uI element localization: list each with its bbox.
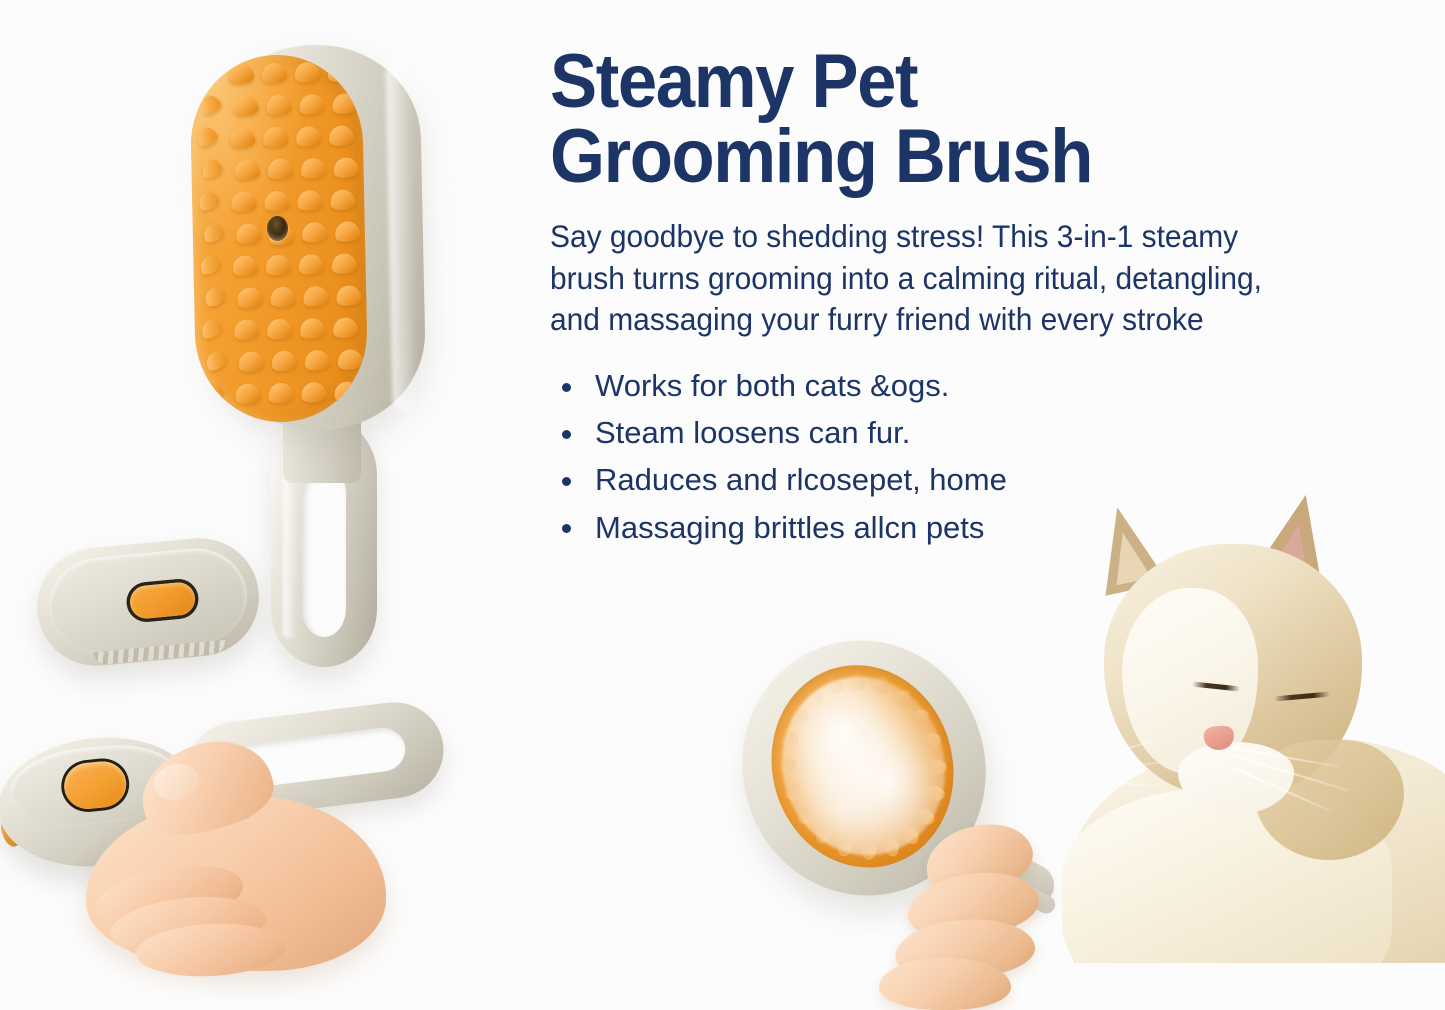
bristle bbox=[199, 381, 225, 406]
bristle bbox=[334, 220, 361, 243]
feature-label: Massaging brittles allcn pets bbox=[595, 510, 984, 545]
cat-head bbox=[1104, 544, 1362, 796]
feature-label: Raduces and rlcosepet, home bbox=[595, 462, 1007, 497]
bristle bbox=[233, 318, 260, 341]
bristle bbox=[197, 253, 223, 278]
bristle bbox=[270, 349, 297, 372]
copy-column: Steamy Pet Grooming Brush Say goodbye to… bbox=[550, 44, 1280, 551]
feature-item: Raduces and rlcosepet, home bbox=[550, 456, 1280, 503]
feature-label: Works for both cats &ogs. bbox=[595, 368, 949, 403]
bristle bbox=[266, 318, 293, 341]
bristle bbox=[201, 285, 227, 310]
feature-item: Massaging brittles allcn pets bbox=[550, 504, 1280, 551]
bristle bbox=[237, 350, 264, 373]
bristle bbox=[198, 317, 224, 342]
bullet-dot bbox=[562, 477, 571, 486]
cat-whisker bbox=[1066, 761, 1170, 774]
brush-body-rear-view bbox=[37, 543, 259, 661]
feature-item: Works for both cats &ogs. bbox=[550, 362, 1280, 409]
bristle bbox=[231, 254, 258, 277]
bristle bbox=[336, 348, 363, 371]
bristle bbox=[297, 253, 324, 276]
bullet-dot bbox=[562, 383, 571, 392]
bullet-dot bbox=[562, 430, 571, 439]
bristle bbox=[269, 285, 296, 308]
product-description: Say goodbye to shedding stress! This 3-i… bbox=[550, 216, 1272, 340]
hand-holding-brush-image bbox=[0, 700, 470, 963]
hand-holding-foam-brush bbox=[885, 822, 1075, 972]
bristle bbox=[203, 349, 229, 374]
bristle bbox=[330, 252, 357, 275]
bristle bbox=[332, 316, 359, 339]
feature-label: Steam loosens can fur. bbox=[595, 415, 910, 450]
steam-foam-brush-image bbox=[735, 636, 1065, 963]
finger bbox=[879, 958, 1011, 1010]
bristle bbox=[264, 254, 291, 277]
bristle bbox=[236, 286, 263, 309]
bullet-dot bbox=[562, 524, 571, 533]
bristle bbox=[332, 156, 359, 179]
bristle bbox=[234, 382, 261, 405]
feature-list: Works for both cats &ogs.Steam loosens c… bbox=[550, 362, 1280, 550]
cat-eye-right-closed bbox=[1274, 692, 1330, 702]
bristle bbox=[299, 317, 326, 340]
bristle bbox=[300, 381, 327, 404]
bristle bbox=[335, 284, 362, 307]
bristle bbox=[329, 188, 356, 211]
page-title: Steamy Pet Grooming Brush bbox=[550, 44, 1229, 194]
poster-canvas: Steamy Pet Grooming Brush Say goodbye to… bbox=[0, 0, 1445, 963]
bristle bbox=[267, 382, 294, 405]
bristle bbox=[303, 349, 330, 372]
cat-photo bbox=[1040, 488, 1445, 963]
bristle bbox=[328, 124, 355, 147]
feature-item: Steam loosens can fur. bbox=[550, 409, 1280, 456]
bristle bbox=[302, 285, 329, 308]
